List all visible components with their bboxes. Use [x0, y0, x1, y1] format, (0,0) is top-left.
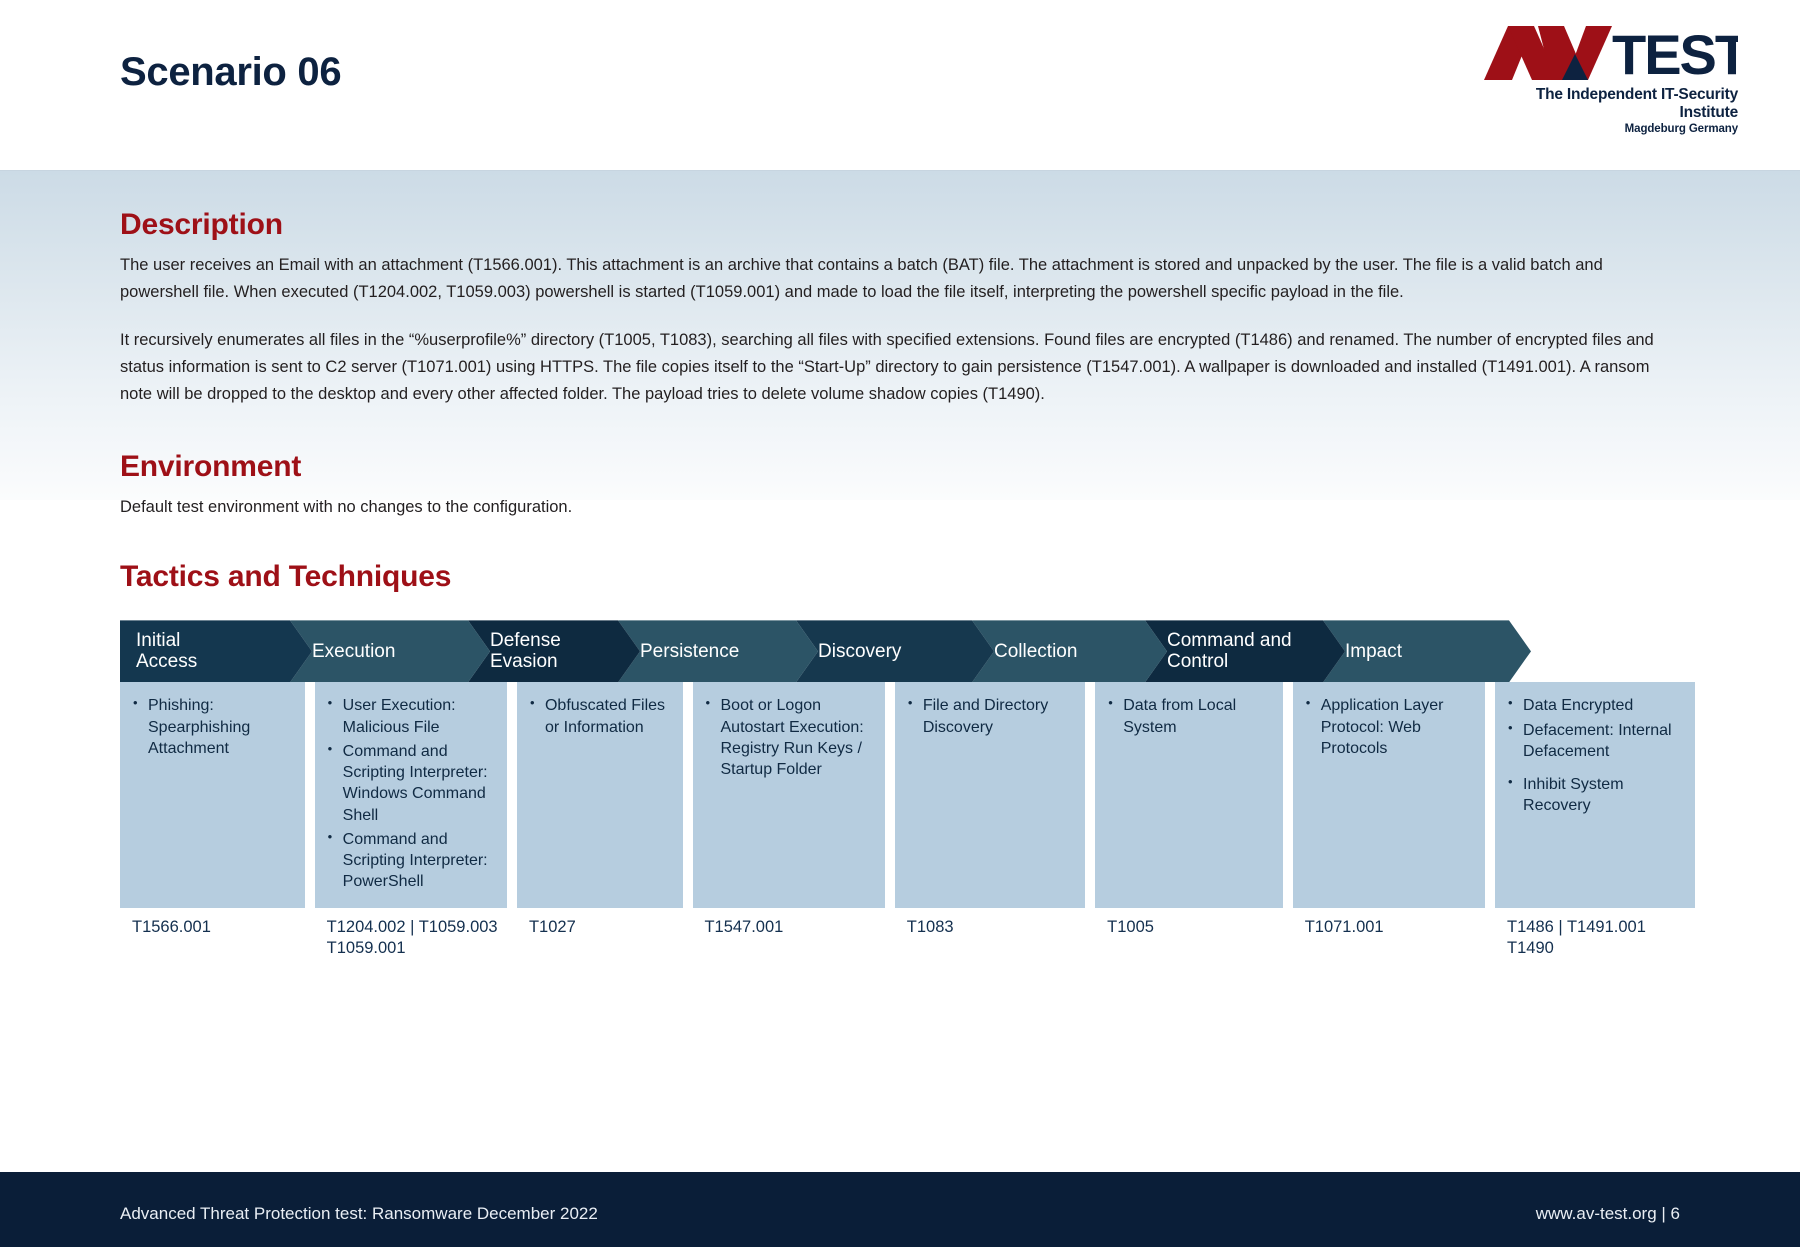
technique-ids-impact: T1486 | T1491.001 T1490: [1495, 917, 1695, 961]
logo-tagline: The Independent IT-Security Institute: [1482, 86, 1738, 122]
technique-item: Command and Scripting Interpreter: Power…: [327, 829, 495, 893]
description-paragraph-2: It recursively enumerates all files in t…: [120, 327, 1680, 407]
tactic-label-discovery: Discovery: [818, 641, 901, 662]
tactic-label-line2: Evasion: [490, 651, 558, 672]
technique-ids-defense-evasion: T1027: [517, 917, 682, 961]
technique-item: Phishing: Spearphishing Attachment: [132, 695, 293, 759]
technique-cell-collection: Data from Local System: [1095, 682, 1283, 907]
technique-item: User Execution: Malicious File: [327, 695, 495, 738]
technique-id: T1547.001: [704, 917, 884, 939]
footer-url-page[interactable]: www.av-test.org | 6: [1536, 1204, 1680, 1224]
logo-location: Magdeburg Germany: [1482, 123, 1738, 135]
tactic-label-line1: Defense: [490, 630, 561, 651]
tactic-chevron-discovery[interactable]: Discovery: [796, 620, 994, 682]
tactic-chevron-impact[interactable]: Impact: [1323, 620, 1531, 682]
technique-cell-command-and-control: Application Layer Protocol: Web Protocol…: [1293, 682, 1485, 907]
technique-item: Application Layer Protocol: Web Protocol…: [1305, 695, 1473, 759]
tactic-label-line2: Access: [136, 651, 197, 672]
tactics-id-row: T1566.001 T1204.002 | T1059.003 T1059.00…: [120, 917, 1695, 961]
technique-item: Data from Local System: [1107, 695, 1271, 738]
tactic-chevron-command-and-control[interactable]: Command and Control: [1145, 620, 1345, 682]
page-footer: Advanced Threat Protection test: Ransomw…: [0, 1172, 1800, 1255]
technique-id: T1005: [1107, 917, 1283, 939]
technique-item: Boot or Logon Autostart Execution: Regis…: [705, 695, 873, 780]
tactic-chevron-persistence[interactable]: Persistence: [618, 620, 818, 682]
technique-item: Obfuscated Files or Information: [529, 695, 671, 738]
page-header: Scenario 06 TEST The Independent IT-Secu…: [0, 0, 1800, 170]
tactics-table: Initial Access Execution Defense Evasion: [120, 620, 1695, 960]
tactic-label-line2: Control: [1167, 651, 1228, 672]
technique-id: T1059.001: [327, 938, 507, 960]
technique-ids-command-and-control: T1071.001: [1293, 917, 1485, 961]
logo-wordmark: TEST: [1482, 24, 1738, 82]
environment-text: Default test environment with no changes…: [120, 494, 1680, 521]
tactic-label-impact: Impact: [1345, 641, 1402, 662]
tactic-label-line1: Command and: [1167, 630, 1292, 651]
technique-id: T1490: [1507, 938, 1695, 960]
av-test-logo-icon: TEST: [1482, 24, 1738, 82]
description-paragraph-1: The user receives an Email with an attac…: [120, 252, 1680, 305]
tactic-chevron-initial-access[interactable]: Initial Access: [120, 620, 312, 682]
technique-id: T1083: [907, 917, 1085, 939]
technique-cell-persistence: Boot or Logon Autostart Execution: Regis…: [693, 682, 885, 907]
page-content: Description The user receives an Email w…: [0, 170, 1800, 960]
technique-cell-discovery: File and Directory Discovery: [895, 682, 1085, 907]
technique-list: Application Layer Protocol: Web Protocol…: [1305, 695, 1473, 759]
av-test-logo: TEST The Independent IT-Security Institu…: [1482, 24, 1738, 135]
technique-id: T1566.001: [132, 917, 305, 939]
technique-item: Inhibit System Recovery: [1507, 774, 1683, 817]
technique-item: Data Encrypted: [1507, 695, 1683, 716]
tactic-label-collection: Collection: [994, 641, 1077, 662]
technique-item: Defacement: Internal Defacement: [1507, 720, 1683, 763]
technique-list: File and Directory Discovery: [907, 695, 1073, 738]
tactic-label-persistence: Persistence: [640, 641, 739, 662]
description-heading: Description: [120, 170, 1680, 242]
footer-test-name: Advanced Threat Protection test: Ransomw…: [120, 1204, 598, 1224]
technique-cell-impact: Data Encrypted Defacement: Internal Defa…: [1495, 682, 1695, 907]
tactic-label-line1: Initial: [136, 630, 180, 651]
svg-text:TEST: TEST: [1612, 24, 1738, 82]
technique-ids-execution: T1204.002 | T1059.003 T1059.001: [315, 917, 507, 961]
technique-id: T1071.001: [1305, 917, 1485, 939]
tactics-heading: Tactics and Techniques: [120, 560, 1680, 594]
technique-ids-discovery: T1083: [895, 917, 1085, 961]
technique-cell-defense-evasion: Obfuscated Files or Information: [517, 682, 683, 907]
technique-list: User Execution: Malicious File Command a…: [327, 695, 495, 892]
technique-ids-initial-access: T1566.001: [120, 917, 305, 961]
page-title: Scenario 06: [120, 50, 341, 95]
technique-ids-persistence: T1547.001: [692, 917, 884, 961]
footer-bottom-strip: [0, 1247, 1800, 1255]
technique-ids-collection: T1005: [1095, 917, 1283, 961]
technique-cell-execution: User Execution: Malicious File Command a…: [315, 682, 507, 907]
technique-id: T1027: [529, 917, 682, 939]
technique-item: File and Directory Discovery: [907, 695, 1073, 738]
technique-list: Data from Local System: [1107, 695, 1271, 738]
technique-cell-initial-access: Phishing: Spearphishing Attachment: [120, 682, 305, 907]
scenario-page: Scenario 06 TEST The Independent IT-Secu…: [0, 0, 1800, 1255]
environment-heading: Environment: [120, 450, 1680, 484]
tactic-chevron-collection[interactable]: Collection: [972, 620, 1167, 682]
technique-list: Data Encrypted Defacement: Internal Defa…: [1507, 695, 1683, 816]
technique-item: Command and Scripting Interpreter: Windo…: [327, 741, 495, 826]
tactics-technique-row: Phishing: Spearphishing Attachment User …: [120, 682, 1695, 907]
technique-list: Boot or Logon Autostart Execution: Regis…: [705, 695, 873, 780]
technique-list: Phishing: Spearphishing Attachment: [132, 695, 293, 759]
technique-list: Obfuscated Files or Information: [529, 695, 671, 738]
tactic-label-execution: Execution: [312, 641, 395, 662]
technique-id: T1204.002 | T1059.003: [327, 917, 507, 939]
technique-id: T1486 | T1491.001: [1507, 917, 1695, 939]
tactic-chevron-defense-evasion[interactable]: Defense Evasion: [468, 620, 640, 682]
tactic-chevron-execution[interactable]: Execution: [290, 620, 490, 682]
tactics-chevron-row: Initial Access Execution Defense Evasion: [120, 620, 1695, 682]
